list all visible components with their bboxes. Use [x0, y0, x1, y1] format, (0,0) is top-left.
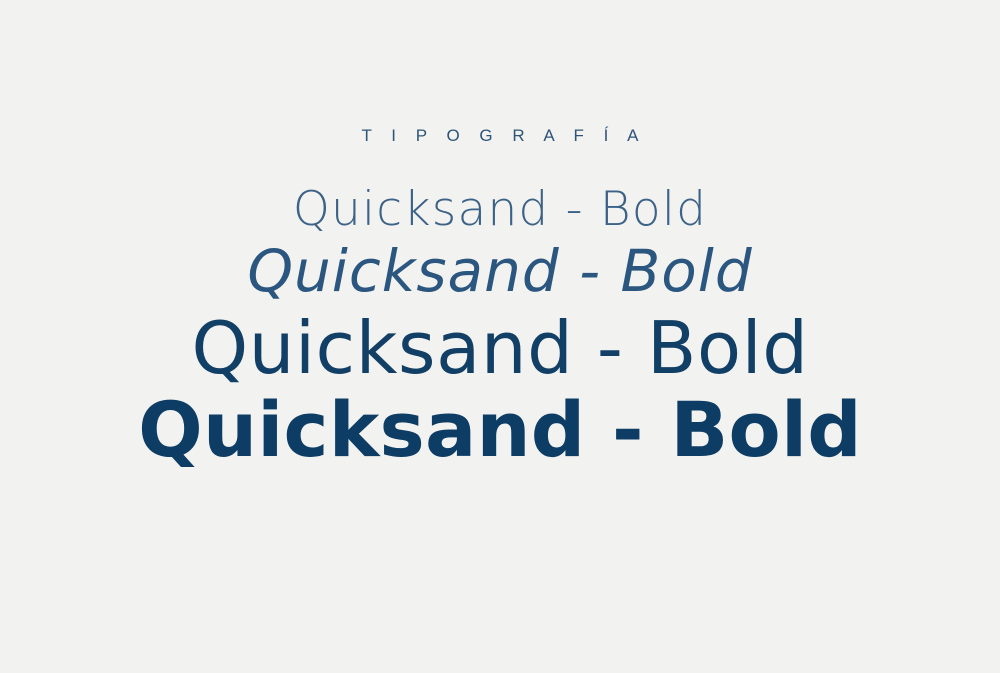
specimen-stack: Quicksand - Bold Quicksand - Bold Quicks… [0, 186, 1000, 478]
specimen-line-light: Quicksand - Bold [0, 186, 1000, 242]
typography-specimen-board: T I P O G R A F Í A Quicksand - Bold Qui… [0, 0, 1000, 673]
section-eyebrow-tipografia: T I P O G R A F Í A [0, 126, 1000, 146]
specimen-line-bold: Quicksand - Bold [0, 392, 1000, 478]
specimen-line-regular: Quicksand - Bold [0, 312, 1000, 392]
specimen-line-light-italic: Quicksand - Bold [0, 242, 1000, 312]
